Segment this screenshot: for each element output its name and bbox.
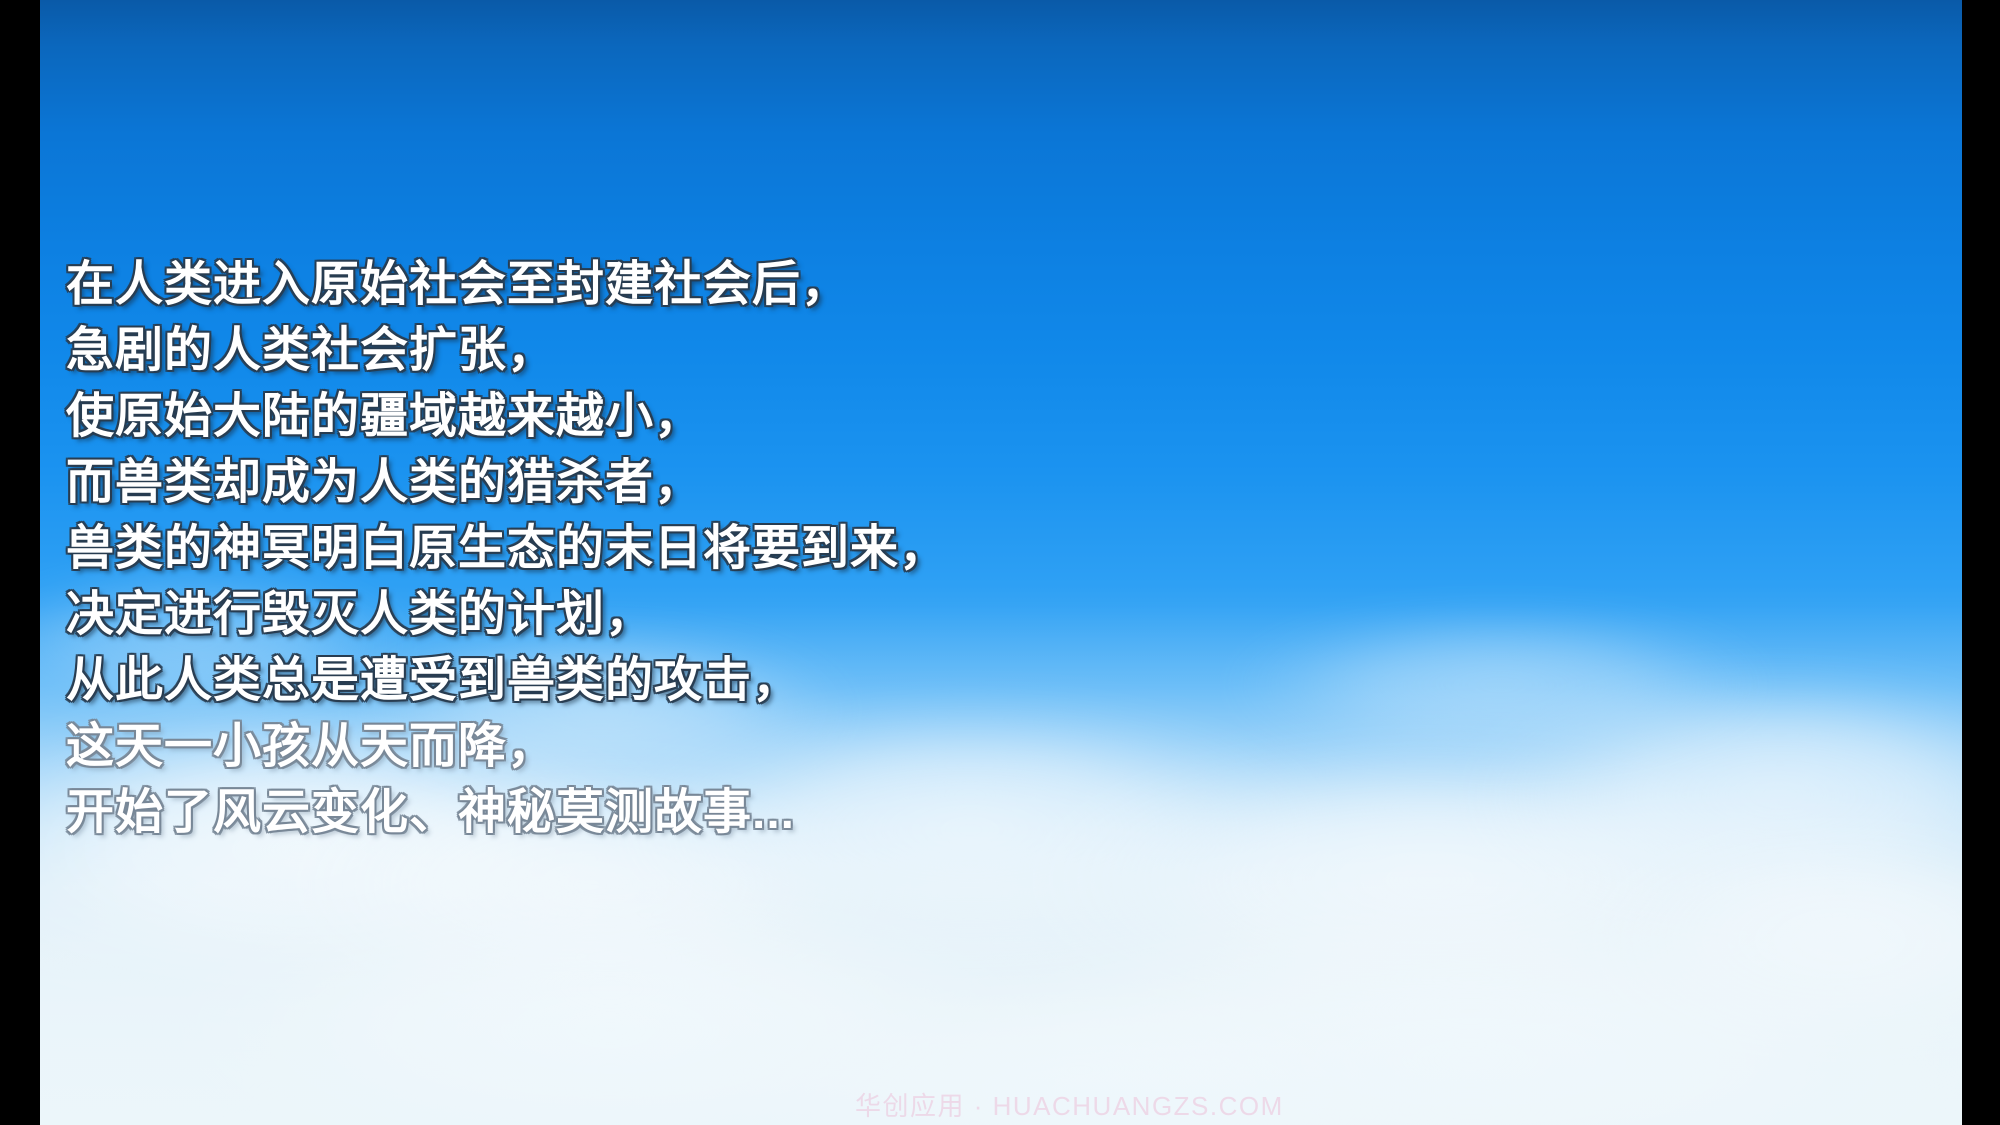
letterbox-bar-left xyxy=(0,0,40,1125)
video-frame[interactable]: 在人类进入原始社会至封建社会后， 急剧的人类社会扩张， 使原始大陆的疆域越来越小… xyxy=(40,0,1962,1125)
story-line: 开始了风云变化、神秘莫测故事... xyxy=(66,780,1566,846)
story-line: 这天一小孩从天而降， xyxy=(66,714,1566,780)
watermark: 华创应用 · HUACHUANGZS.COM xyxy=(855,1086,1284,1123)
story-line: 使原始大陆的疆域越来越小， xyxy=(66,384,1566,450)
story-text-block: 在人类进入原始社会至封建社会后， 急剧的人类社会扩张， 使原始大陆的疆域越来越小… xyxy=(66,252,1566,846)
story-line: 决定进行毁灭人类的计划， xyxy=(66,582,1566,648)
story-line: 从此人类总是遭受到兽类的攻击， xyxy=(66,648,1566,714)
letterbox-bar-right xyxy=(1962,0,2000,1125)
video-screen: 在人类进入原始社会至封建社会后， 急剧的人类社会扩张， 使原始大陆的疆域越来越小… xyxy=(0,0,2000,1125)
story-line: 急剧的人类社会扩张， xyxy=(66,318,1566,384)
story-line: 兽类的神冥明白原生态的末日将要到来， xyxy=(66,516,1566,582)
story-line: 而兽类却成为人类的猎杀者， xyxy=(66,450,1566,516)
story-line: 在人类进入原始社会至封建社会后， xyxy=(66,252,1566,318)
